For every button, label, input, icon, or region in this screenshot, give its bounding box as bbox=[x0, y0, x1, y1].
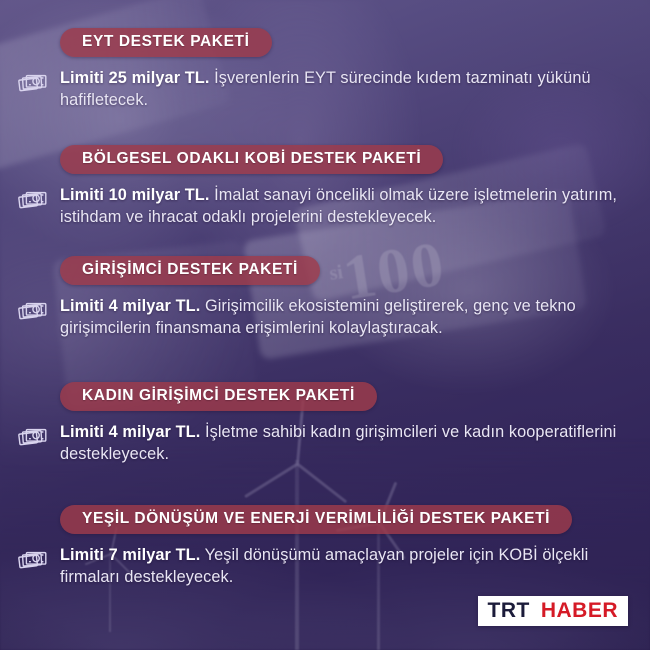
support-package-section: BÖLGESEL ODAKLI KOBİ DESTEK PAKETİ Limit… bbox=[0, 145, 650, 228]
package-detail-row: Limiti 4 milyar TL. Girişimcilik ekosist… bbox=[0, 295, 650, 340]
package-amount: Limiti 7 milyar TL. bbox=[60, 546, 200, 564]
logo-trt-text: TRT bbox=[478, 596, 537, 626]
banknotes-icon bbox=[18, 548, 48, 574]
trt-haber-logo: TRT HABER bbox=[478, 596, 629, 626]
package-amount: Limiti 4 milyar TL. bbox=[60, 297, 200, 315]
logo-haber-text: HABER bbox=[537, 596, 628, 626]
banknotes-icon bbox=[18, 71, 48, 97]
package-detail-row: Limiti 10 milyar TL. İmalat sanayi öncel… bbox=[0, 184, 650, 229]
package-detail-text: Limiti 4 milyar TL. İşletme sahibi kadın… bbox=[60, 421, 628, 466]
package-title-badge: BÖLGESEL ODAKLI KOBİ DESTEK PAKETİ bbox=[60, 145, 443, 174]
support-package-section: GİRİŞİMCİ DESTEK PAKETİ Limiti 4 milyar … bbox=[0, 256, 650, 339]
support-package-section: EYT DESTEK PAKETİ Limiti 25 milyar TL. İ… bbox=[0, 28, 650, 111]
package-title-badge: GİRİŞİMCİ DESTEK PAKETİ bbox=[60, 256, 320, 285]
package-detail-text: Limiti 4 milyar TL. Girişimcilik ekosist… bbox=[60, 295, 628, 340]
package-amount: Limiti 4 milyar TL. bbox=[60, 423, 200, 441]
package-detail-text: Limiti 10 milyar TL. İmalat sanayi öncel… bbox=[60, 184, 628, 229]
package-title-badge: EYT DESTEK PAKETİ bbox=[60, 28, 272, 57]
support-package-section: KADIN GİRİŞİMCİ DESTEK PAKETİ Limiti 4 m… bbox=[0, 382, 650, 465]
package-detail-text: Limiti 7 milyar TL. Yeşil dönüşümü amaçl… bbox=[60, 544, 628, 589]
package-detail-row: Limiti 25 milyar TL. İşverenlerin EYT sü… bbox=[0, 67, 650, 112]
package-amount: Limiti 10 milyar TL. bbox=[60, 186, 209, 204]
package-detail-row: Limiti 7 milyar TL. Yeşil dönüşümü amaçl… bbox=[0, 544, 650, 589]
package-detail-text: Limiti 25 milyar TL. İşverenlerin EYT sü… bbox=[60, 67, 628, 112]
support-package-section: YEŞİL DÖNÜŞÜM VE ENERJİ VERİMLİLİĞİ DEST… bbox=[0, 505, 650, 588]
poster-content: EYT DESTEK PAKETİ Limiti 25 milyar TL. İ… bbox=[0, 0, 650, 650]
banknotes-icon bbox=[18, 425, 48, 451]
banknotes-icon bbox=[18, 299, 48, 325]
banknotes-icon bbox=[18, 188, 48, 214]
package-title-badge: KADIN GİRİŞİMCİ DESTEK PAKETİ bbox=[60, 382, 377, 411]
package-amount: Limiti 25 milyar TL. bbox=[60, 69, 209, 87]
package-title-badge: YEŞİL DÖNÜŞÜM VE ENERJİ VERİMLİLİĞİ DEST… bbox=[60, 505, 572, 534]
package-detail-row: Limiti 4 milyar TL. İşletme sahibi kadın… bbox=[0, 421, 650, 466]
poster-canvas: si100 EYT DESTEK PAKETİ bbox=[0, 0, 650, 650]
